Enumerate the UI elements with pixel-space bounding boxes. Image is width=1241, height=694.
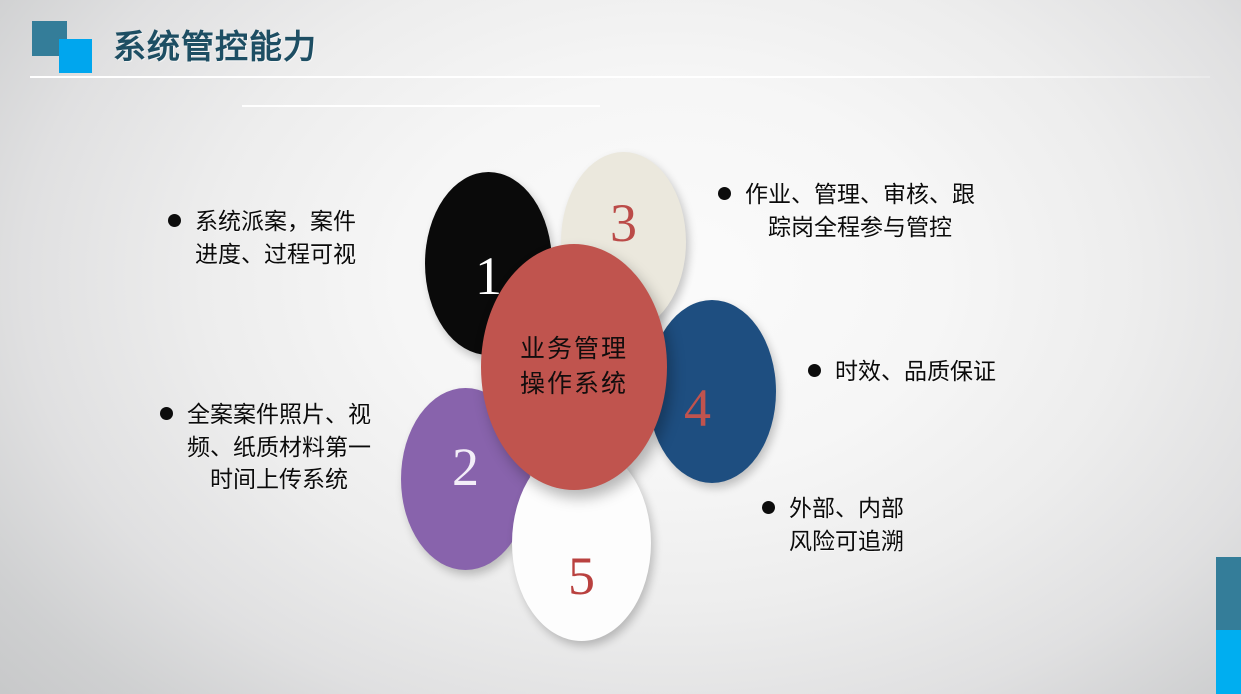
petal-4-number: 4 [684, 381, 711, 435]
bullet-icon [718, 187, 731, 200]
bullet-icon [808, 364, 821, 377]
petal-4[interactable]: 4 [648, 300, 776, 483]
petal-2-number: 2 [452, 440, 479, 494]
callout-left-2-text: 全案案件照片、视 频、纸质材料第一 时间上传系统 [187, 398, 371, 496]
petal-3-number: 3 [610, 196, 637, 250]
callout-right-3: 外部、内部 风险可追溯 [762, 492, 1012, 557]
petal-5-number: 5 [568, 549, 595, 603]
callout-right-1-text: 作业、管理、审核、跟 踪岗全程参与管控 [745, 178, 975, 243]
center-label-line2: 操作系统 [520, 367, 628, 403]
petal-center[interactable]: 业务管理 操作系统 [481, 244, 667, 490]
slide-canvas: 系统管控能力 1 3 2 4 5 业务管理 操作系统 系统派案，案件 进度、过程… [0, 0, 1241, 694]
page-title: 系统管控能力 [113, 20, 317, 68]
callout-left-1: 系统派案，案件 进度、过程可视 [168, 205, 418, 270]
callout-right-2: 时效、品质保证 [808, 355, 1048, 388]
slide-header: 系统管控能力 [0, 0, 1241, 110]
petal-diagram: 1 3 2 4 5 业务管理 操作系统 系统派案，案件 进度、过程可视 全案案件… [0, 110, 1241, 694]
center-label-line1: 业务管理 [520, 332, 628, 368]
callout-right-2-text: 时效、品质保证 [835, 355, 996, 388]
bullet-icon [168, 214, 181, 227]
header-accent-divider [242, 105, 600, 107]
bullet-icon [762, 501, 775, 514]
callout-right-3-text: 外部、内部 风险可追溯 [789, 492, 904, 557]
header-square-blue-icon [59, 39, 92, 73]
header-divider [30, 76, 1210, 78]
callout-right-1: 作业、管理、审核、跟 踪岗全程参与管控 [718, 178, 1038, 243]
callout-left-1-text: 系统派案，案件 进度、过程可视 [195, 205, 356, 270]
callout-left-2: 全案案件照片、视 频、纸质材料第一 时间上传系统 [160, 398, 430, 496]
bullet-icon [160, 407, 173, 420]
